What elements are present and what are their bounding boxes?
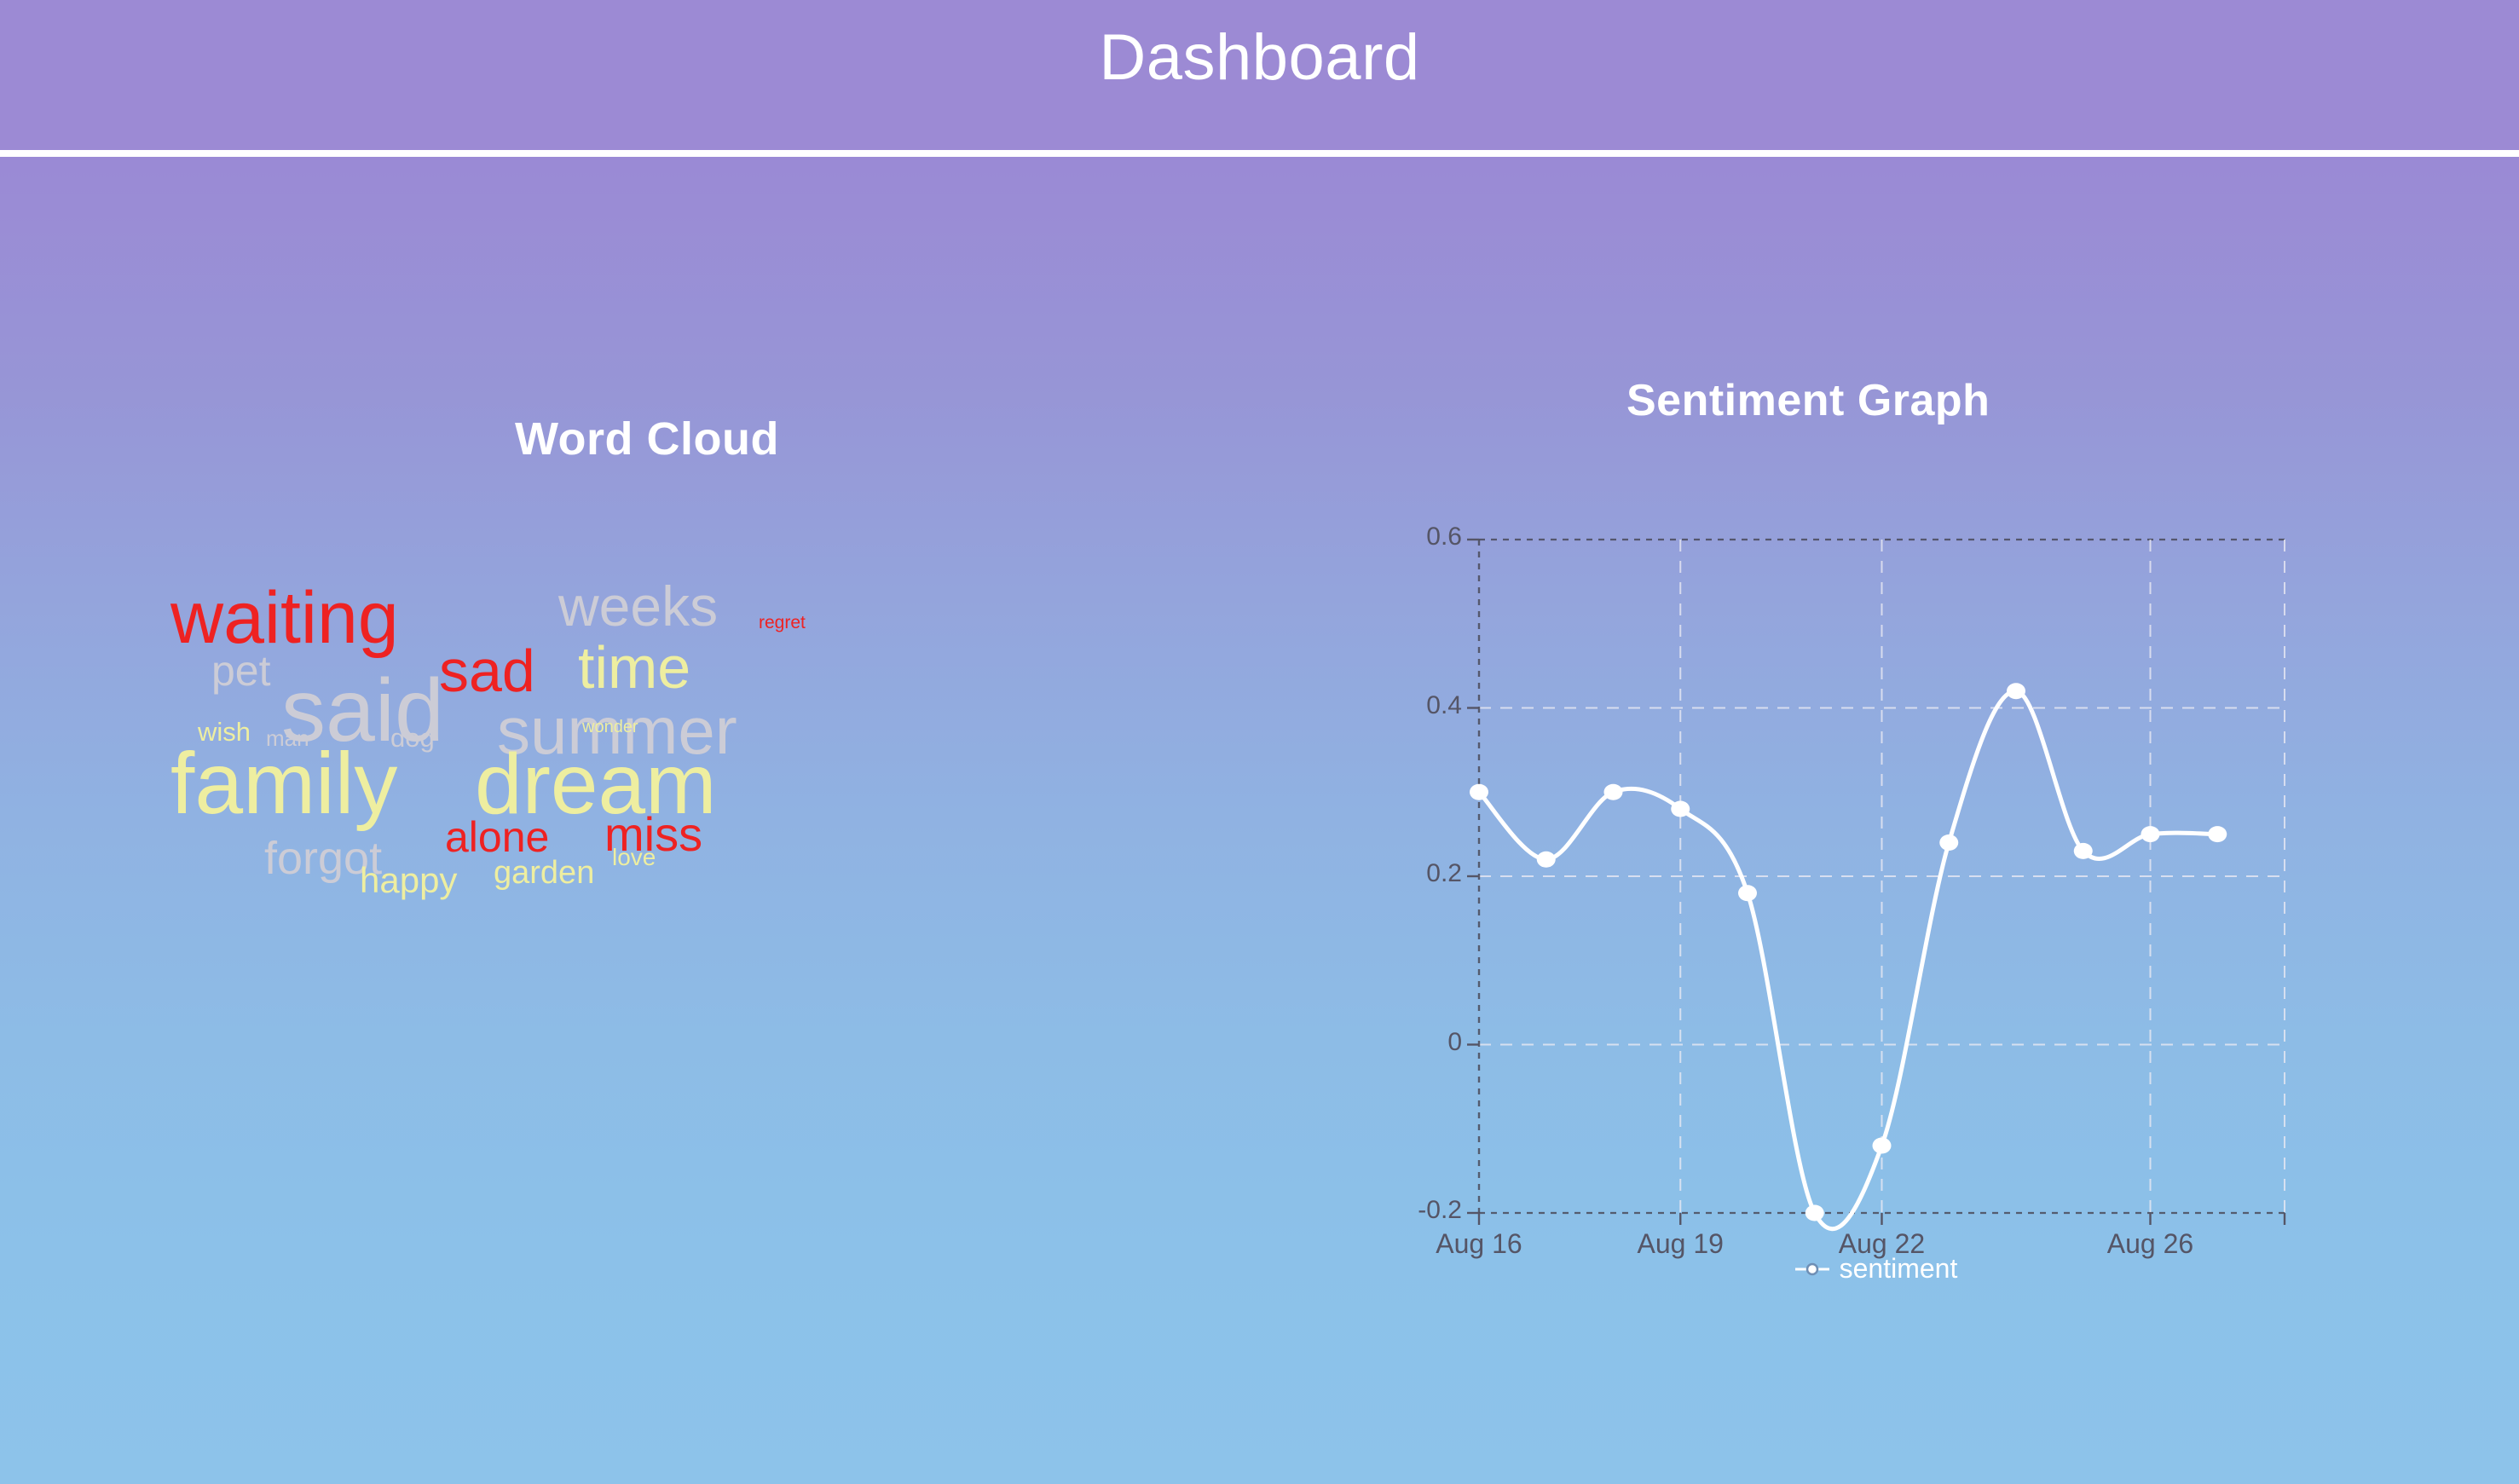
sentiment-line <box>1479 691 2217 1229</box>
y-axis-tick-label: 0.2 <box>1385 859 1462 888</box>
sentiment-data-point[interactable] <box>1873 1138 1892 1154</box>
sentiment-chart[interactable]: -0.200.20.40.6Aug 16Aug 19Aug 22Aug 26 s… <box>1398 511 2353 1330</box>
legend-marker-icon <box>1794 1261 1831 1278</box>
sentiment-data-point[interactable] <box>1537 852 1556 868</box>
y-axis-tick-label: 0.6 <box>1385 523 1462 551</box>
word-cloud-word[interactable]: alone <box>445 816 549 858</box>
y-axis-tick-label: 0 <box>1385 1028 1462 1057</box>
legend-label: sentiment <box>1840 1253 1958 1285</box>
sentiment-data-point[interactable] <box>1470 784 1488 800</box>
sentiment-data-point[interactable] <box>2141 826 2160 842</box>
word-cloud-word[interactable]: pet <box>211 650 271 692</box>
sentiment-data-point[interactable] <box>2007 683 2025 699</box>
word-cloud-word[interactable]: regret <box>759 614 806 632</box>
word-cloud: waitingweeksregretpetsadtimesaidsummerwi… <box>170 563 1193 1108</box>
word-cloud-word[interactable]: weeks <box>558 578 718 634</box>
word-cloud-word[interactable]: family <box>170 740 397 827</box>
y-axis-tick-label: 0.4 <box>1385 691 1462 720</box>
sentiment-data-point[interactable] <box>1939 834 1958 851</box>
y-axis-tick-label: -0.2 <box>1385 1196 1462 1225</box>
sentiment-data-point[interactable] <box>2074 843 2093 859</box>
sentiment-data-point[interactable] <box>1604 784 1623 800</box>
sentiment-data-point[interactable] <box>1805 1205 1824 1221</box>
sentiment-data-point[interactable] <box>1671 801 1690 817</box>
chart-legend[interactable]: sentiment <box>1398 1253 2353 1285</box>
sentiment-data-point[interactable] <box>2208 826 2227 842</box>
dashboard-page: Dashboard Word Cloud waitingweeksregretp… <box>0 0 2519 1484</box>
page-title: Dashboard <box>0 20 2519 95</box>
word-cloud-word[interactable]: waiting <box>170 581 399 655</box>
word-cloud-word[interactable]: garden <box>494 857 594 889</box>
sentiment-data-point[interactable] <box>1738 885 1757 901</box>
sentiment-graph-title: Sentiment Graph <box>1626 375 1990 426</box>
word-cloud-title: Word Cloud <box>515 413 779 465</box>
sentiment-plot-svg <box>1398 511 2353 1330</box>
word-cloud-word[interactable]: time <box>578 638 690 697</box>
word-cloud-word[interactable]: wonder <box>582 719 638 736</box>
word-cloud-word[interactable]: sad <box>439 641 535 701</box>
header-divider <box>0 150 2519 157</box>
word-cloud-word[interactable]: love <box>612 846 656 869</box>
word-cloud-word[interactable]: happy <box>360 863 457 898</box>
app-header: Dashboard <box>0 0 2519 150</box>
